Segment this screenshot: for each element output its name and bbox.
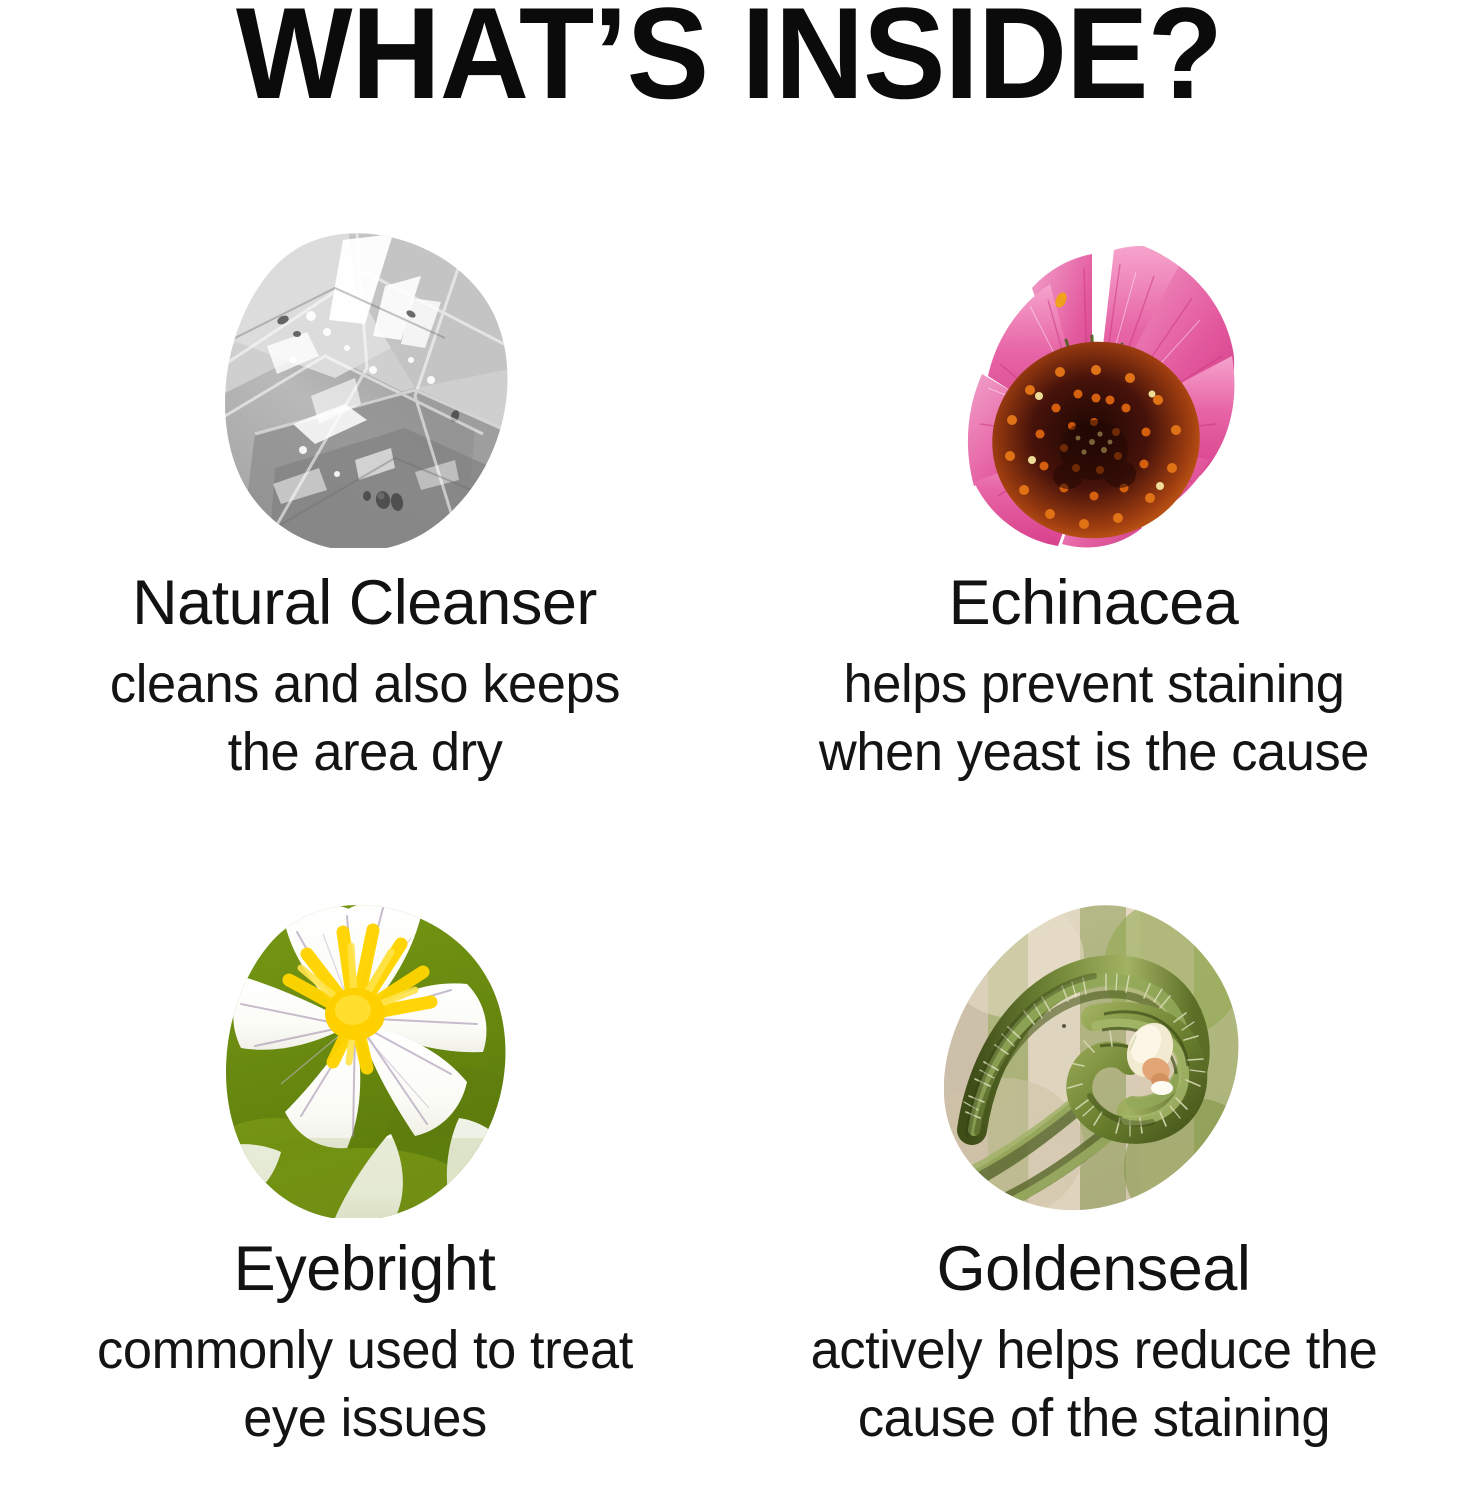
ingredient-name: Echinacea bbox=[744, 570, 1444, 636]
ingredient-name: Goldenseal bbox=[744, 1236, 1444, 1302]
ingredient-card-echinacea: Echinacea helps prevent staining when ye… bbox=[729, 170, 1458, 840]
ingredient-card-eyebright: Eyebright commonly used to treat eye iss… bbox=[0, 840, 729, 1500]
ingredient-text-natural-cleanser: Natural Cleanser cleans and also keeps t… bbox=[15, 570, 715, 786]
ingredient-description-line1: actively helps reduce the bbox=[754, 1316, 1433, 1384]
ingredient-text-echinacea: Echinacea helps prevent staining when ye… bbox=[744, 570, 1444, 786]
ingredient-card-goldenseal: Goldenseal actively helps reduce the cau… bbox=[729, 840, 1458, 1500]
ingredient-description-line2: cause of the staining bbox=[754, 1384, 1433, 1452]
page-title: WHAT’S INSIDE? bbox=[236, 0, 1222, 118]
ingredient-card-natural-cleanser: Natural Cleanser cleans and also keeps t… bbox=[0, 170, 729, 840]
ingredient-description-line1: helps prevent staining bbox=[754, 650, 1433, 718]
ingredient-name: Natural Cleanser bbox=[15, 570, 715, 636]
ingredient-description-line2: eye issues bbox=[25, 1384, 704, 1452]
whats-inside-infographic: WHAT’S INSIDE? bbox=[0, 0, 1458, 1500]
ingredients-grid: Natural Cleanser cleans and also keeps t… bbox=[0, 170, 1458, 1500]
goldenseal-plant-photo bbox=[944, 898, 1244, 1218]
ingredient-name: Eyebright bbox=[15, 1236, 715, 1302]
ingredient-text-goldenseal: Goldenseal actively helps reduce the cau… bbox=[744, 1236, 1444, 1452]
page-title-wrap: WHAT’S INSIDE? bbox=[0, 0, 1458, 118]
ingredient-description-line1: cleans and also keeps bbox=[25, 650, 704, 718]
ingredient-text-eyebright: Eyebright commonly used to treat eye iss… bbox=[15, 1236, 715, 1452]
echinacea-flower-photo bbox=[944, 228, 1244, 548]
crystal-quartz-photo bbox=[215, 228, 515, 548]
ingredient-description-line2: the area dry bbox=[25, 718, 704, 786]
eyebright-flower-photo bbox=[215, 898, 515, 1218]
ingredient-description-line2: when yeast is the cause bbox=[754, 718, 1433, 786]
ingredient-description-line1: commonly used to treat bbox=[25, 1316, 704, 1384]
